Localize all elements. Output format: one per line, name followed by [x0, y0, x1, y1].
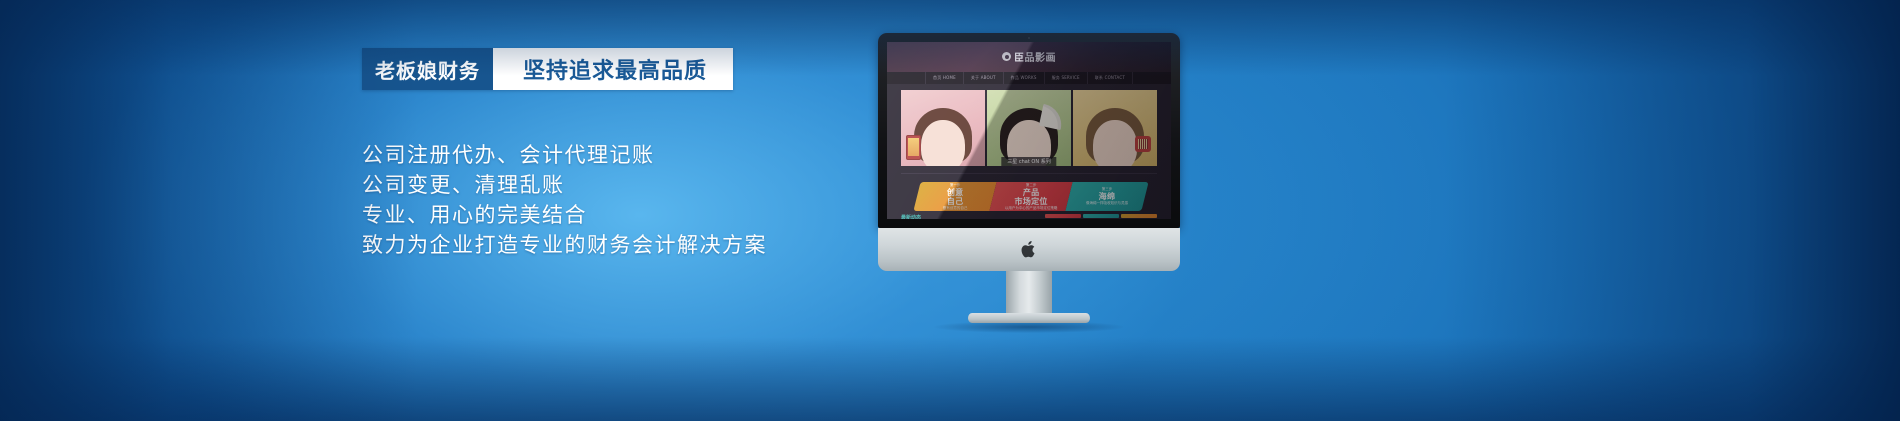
panel-kicker: 第二步	[1005, 183, 1058, 188]
webcam-icon	[1028, 37, 1030, 39]
model-face	[1093, 120, 1137, 166]
nav-item-service[interactable]: 服务 SERVICE	[1045, 72, 1088, 84]
gallery-shot-green[interactable]: 三星 chat ON 系列	[987, 90, 1071, 166]
gallery-shot-yellow[interactable]	[1073, 90, 1157, 166]
nav-item-works[interactable]: 作品 WORKS	[1004, 72, 1045, 84]
monitor-screen: 臣品影画 首页 HOME 关于 ABOUT 作品 WORKS 服务 SERVIC…	[887, 42, 1171, 219]
camera-aperture-icon	[1002, 52, 1011, 61]
nav-item-contact[interactable]: 联系 CONTACT	[1088, 72, 1133, 84]
site-divider	[901, 173, 1157, 174]
footer-chip-row	[1045, 214, 1157, 218]
gallery-shot-pink[interactable]	[901, 90, 985, 166]
panel-title: 创意	[943, 188, 968, 197]
brand-tag: 老板娘财务	[362, 48, 493, 90]
panel-sub: 像海绵一样吸收知识与灵感	[1086, 201, 1128, 206]
panel-title: 产品	[1005, 188, 1058, 197]
headline-banner: 老板娘财务 坚持追求最高品质	[362, 48, 733, 90]
model-face	[921, 120, 965, 166]
service-copy-block: 公司注册代办、会计代理记账 公司变更、清理乱账 专业、用心的完美结合 致力为企业…	[362, 140, 767, 260]
site-footer: 最新动态	[901, 214, 1157, 219]
copy-line: 专业、用心的完美结合	[362, 200, 767, 230]
copy-line: 致力为企业打造专业的财务会计解决方案	[362, 230, 767, 260]
panel-title2: 市场定位	[1005, 197, 1058, 206]
footer-chip-teal	[1083, 214, 1119, 218]
gallery-caption: 三星 chat ON 系列	[1001, 157, 1056, 166]
monitor-bezel: 臣品影画 首页 HOME 关于 ABOUT 作品 WORKS 服务 SERVIC…	[878, 33, 1180, 228]
website-preview: 臣品影画 首页 HOME 关于 ABOUT 作品 WORKS 服务 SERVIC…	[887, 42, 1171, 219]
site-gallery: 三星 chat ON 系列	[901, 90, 1157, 166]
site-feature-panels: 第一步 创意 自己 做有创意的自己 第二步 产品 市场定位 以用	[913, 182, 1148, 211]
panel-title: 海绵	[1086, 192, 1128, 201]
qr-code-icon	[1135, 136, 1151, 152]
feature-panel-creative[interactable]: 第一步 创意 自己 做有创意的自己	[913, 182, 996, 211]
folding-fan-icon	[1039, 104, 1065, 130]
nav-item-home[interactable]: 首页 HOME	[925, 72, 964, 84]
apple-logo-icon	[1021, 240, 1038, 259]
site-logo-text: 臣品影画	[1014, 49, 1056, 64]
site-logo: 臣品影画	[1002, 49, 1056, 64]
slogan-text: 坚持追求最高品质	[493, 48, 733, 90]
feature-panel-sponge[interactable]: 第三步 海绵 像海绵一样吸收知识与灵感	[1065, 182, 1148, 211]
footer-chip-red	[1045, 214, 1081, 218]
feature-panel-product[interactable]: 第二步 产品 市场定位 以用户为中心的产品市场定位策略	[989, 182, 1072, 211]
nav-item-about[interactable]: 关于 ABOUT	[964, 72, 1004, 84]
imac-mockup: 臣品影画 首页 HOME 关于 ABOUT 作品 WORKS 服务 SERVIC…	[878, 33, 1180, 303]
monitor-stand-foot	[968, 313, 1090, 323]
panel-sub: 做有创意的自己	[943, 206, 968, 211]
panel-sub: 以用户为中心的产品市场定位策略	[1005, 206, 1058, 211]
panel-kicker: 第一步	[943, 183, 968, 188]
copy-line: 公司注册代办、会计代理记账	[362, 140, 767, 170]
banner-stage: 老板娘财务 坚持追求最高品质 公司注册代办、会计代理记账 公司变更、清理乱账 专…	[0, 0, 1900, 421]
site-nav: 首页 HOME 关于 ABOUT 作品 WORKS 服务 SERVICE 联系 …	[887, 72, 1171, 84]
footer-chip-orange	[1121, 214, 1157, 218]
panel-title2: 自己	[943, 197, 968, 206]
panel-kicker: 第三步	[1086, 187, 1128, 192]
copy-line: 公司变更、清理乱账	[362, 170, 767, 200]
monitor-stand-neck	[1006, 271, 1052, 315]
smartphone-icon	[906, 135, 921, 160]
